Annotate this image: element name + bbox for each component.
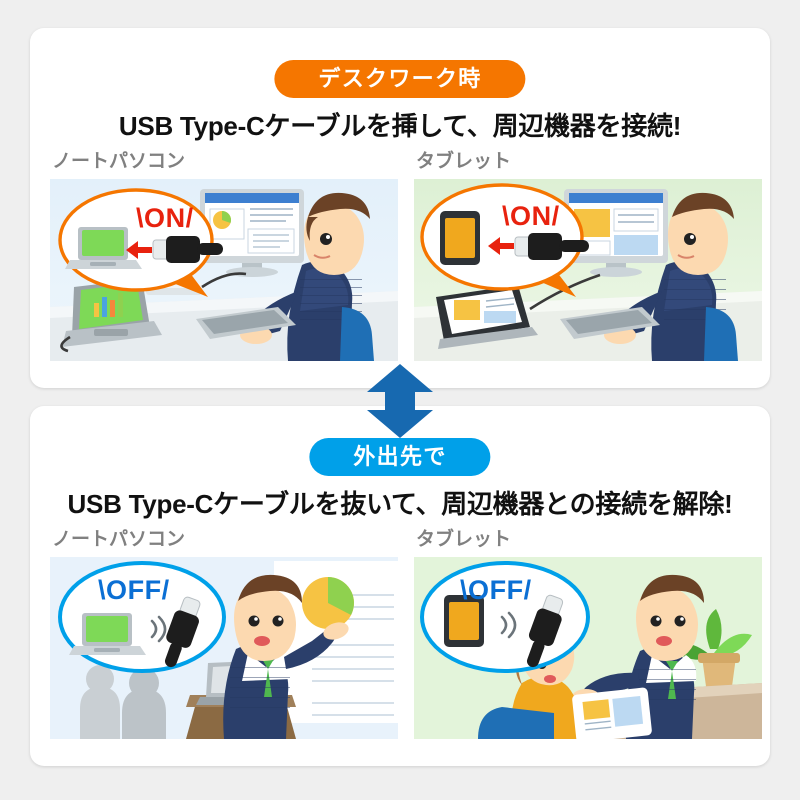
on-the-go-card: 外出先で USB Type-Cケーブルを抜いて、周辺機器との接続を解除! ノート… xyxy=(30,406,770,766)
on-the-go-headline: USB Type-Cケーブルを抜いて、周辺機器との接続を解除! xyxy=(30,484,770,521)
desk-work-laptop-panel: \ON/ xyxy=(50,179,398,361)
on-the-go-laptop-column: ノートパソコン xyxy=(50,524,398,739)
on-the-go-badge: 外出先で xyxy=(309,438,490,476)
desk-work-laptop-column: ノートパソコン xyxy=(50,146,398,361)
on-the-go-tablet-label: タブレット xyxy=(414,524,762,551)
tablet-off-label: \OFF/ xyxy=(460,575,532,606)
tablet-off-callout: \OFF/ xyxy=(418,559,596,679)
on-the-go-tablet-column: タブレット xyxy=(414,524,762,739)
laptop-on-callout: \ON/ xyxy=(56,185,226,297)
desk-work-tablet-panel: \ON/ xyxy=(414,179,762,361)
desk-work-card: デスクワーク時 USB Type-Cケーブルを挿して、周辺機器を接続! ノートパ… xyxy=(30,28,770,388)
desk-work-tablet-column: タブレット xyxy=(414,146,762,361)
desk-work-headline: USB Type-Cケーブルを挿して、周辺機器を接続! xyxy=(30,106,770,143)
desk-work-tablet-label: タブレット xyxy=(414,146,762,173)
infographic-stage: デスクワーク時 USB Type-Cケーブルを挿して、周辺機器を接続! ノートパ… xyxy=(0,0,800,800)
on-the-go-tablet-panel: \OFF/ xyxy=(414,557,762,739)
double-headed-arrow-icon xyxy=(363,364,437,438)
on-the-go-laptop-label: ノートパソコン xyxy=(50,524,398,551)
laptop-off-label: \OFF/ xyxy=(98,575,170,606)
tablet-on-label: \ON/ xyxy=(502,201,560,232)
tablet-on-callout: \ON/ xyxy=(418,181,596,301)
laptop-off-callout: \OFF/ xyxy=(56,559,232,679)
laptop-on-label: \ON/ xyxy=(136,203,194,234)
on-the-go-laptop-panel: \OFF/ xyxy=(50,557,398,739)
desk-work-laptop-label: ノートパソコン xyxy=(50,146,398,173)
desk-work-badge: デスクワーク時 xyxy=(274,60,525,98)
